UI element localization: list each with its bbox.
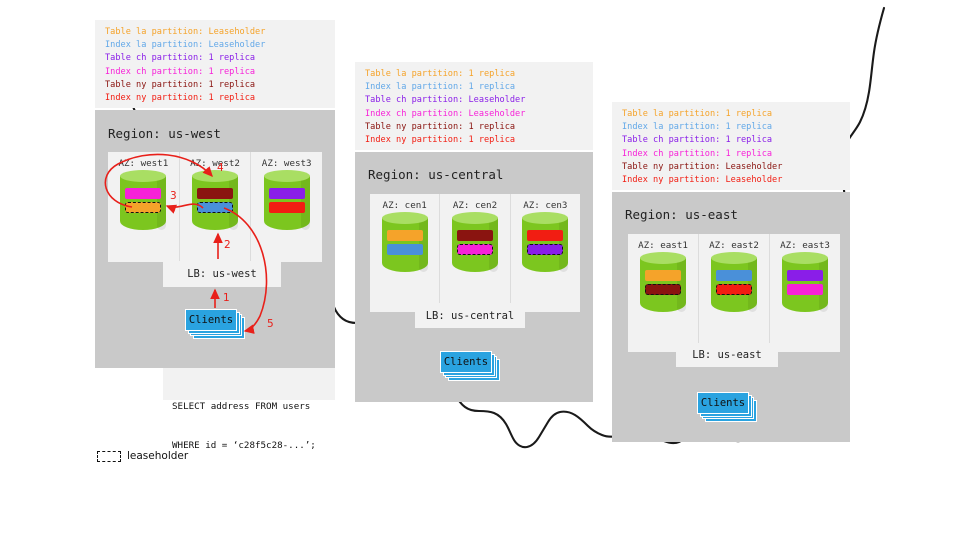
legend-line: Index la partition: 1 replica <box>365 81 585 94</box>
az-label: AZ: east3 <box>780 240 830 251</box>
region-title-us-east: Region: us-east <box>625 207 738 222</box>
partition-bars <box>645 270 681 295</box>
legend-line: Table ny partition: 1 replica <box>105 79 327 92</box>
az-label: AZ: cen2 <box>453 200 497 211</box>
partition-bar-leaseholder <box>125 202 161 213</box>
legend-line: Table ny partition: 1 replica <box>365 121 585 134</box>
legend-us-central: Table la partition: 1 replica Index la p… <box>355 62 593 150</box>
legend-line: Table ny partition: Leaseholder <box>622 161 842 174</box>
sql-line-2: WHERE id = ‘c28f5c28-...’; <box>172 439 326 452</box>
az-label: AZ: west1 <box>118 158 168 169</box>
partition-bars <box>787 270 823 295</box>
az-cell-west3[interactable]: AZ: west3 <box>251 152 322 262</box>
leaseholder-swatch-icon <box>97 451 121 462</box>
clients-card-front[interactable]: Clients <box>185 309 237 331</box>
legend-line: Index la partition: Leaseholder <box>105 39 327 52</box>
legend-line: Table la partition: Leaseholder <box>105 26 327 39</box>
legend-line: Table ch partition: 1 replica <box>622 134 842 147</box>
partition-bar-leaseholder <box>197 202 233 213</box>
partition-bar <box>125 188 161 199</box>
az-cell-cen3[interactable]: AZ: cen3 <box>511 194 580 312</box>
sql-query-note: SELECT address FROM users WHERE id = ‘c2… <box>163 368 335 400</box>
clients-us-west[interactable]: Clients <box>185 309 247 341</box>
db-node-west2[interactable] <box>192 176 238 230</box>
arrow-number-2: 2 <box>224 239 231 251</box>
az-cell-cen2[interactable]: AZ: cen2 <box>440 194 510 312</box>
sql-line-1: SELECT address FROM users <box>172 400 326 413</box>
partition-bars <box>716 270 752 295</box>
leaseholder-key-label: leaseholder <box>127 450 188 462</box>
legend-us-west: Table la partition: Leaseholder Index la… <box>95 20 335 108</box>
cylinder-top <box>452 212 498 224</box>
partition-bar-leaseholder <box>716 284 752 295</box>
clients-card-front[interactable]: Clients <box>440 351 492 373</box>
partition-bar <box>527 230 563 241</box>
partition-bar <box>457 230 493 241</box>
az-cell-west2[interactable]: AZ: west2 <box>180 152 252 262</box>
clients-us-east[interactable]: Clients <box>697 392 759 424</box>
partition-bar <box>716 270 752 281</box>
az-strip-us-west: AZ: west1 AZ: west2 <box>108 152 322 262</box>
lb-us-west[interactable]: LB: us-west <box>163 261 281 287</box>
partition-bar <box>197 188 233 199</box>
az-strip-us-central: AZ: cen1 AZ: cen2 <box>370 194 580 312</box>
legend-line: Table ch partition: Leaseholder <box>365 94 585 107</box>
cylinder-top <box>522 212 568 224</box>
az-label: AZ: west3 <box>262 158 312 169</box>
partition-bar <box>787 284 823 295</box>
cylinder-top <box>192 170 238 182</box>
az-label: AZ: east2 <box>709 240 759 251</box>
cylinder-top <box>640 252 686 264</box>
arrow-number-3: 3 <box>170 190 177 202</box>
legend-line: Table la partition: 1 replica <box>365 68 585 81</box>
az-label: AZ: west2 <box>190 158 240 169</box>
legend-line: Index ch partition: Leaseholder <box>365 108 585 121</box>
az-label: AZ: east1 <box>638 240 688 251</box>
legend-line: Index ch partition: 1 replica <box>622 148 842 161</box>
cylinder-top <box>264 170 310 182</box>
lb-us-central[interactable]: LB: us-central <box>415 303 525 328</box>
db-node-cen2[interactable] <box>452 218 498 272</box>
az-label: AZ: cen3 <box>523 200 567 211</box>
legend-line: Index ny partition: 1 replica <box>105 92 327 105</box>
partition-bar <box>787 270 823 281</box>
legend-line: Index ny partition: Leaseholder <box>622 174 842 187</box>
legend-line: Index la partition: 1 replica <box>622 121 842 134</box>
partition-bars <box>269 188 305 213</box>
legend-line: Index ch partition: 1 replica <box>105 66 327 79</box>
partition-bars <box>197 188 233 213</box>
partition-bar <box>387 244 423 255</box>
db-node-cen3[interactable] <box>522 218 568 272</box>
cylinder-top <box>711 252 757 264</box>
az-cell-east3[interactable]: AZ: east3 <box>770 234 840 352</box>
db-node-east2[interactable] <box>711 258 757 312</box>
partition-bar <box>269 188 305 199</box>
arrow-number-5: 5 <box>267 318 274 330</box>
arrow-number-4: 4 <box>217 162 224 174</box>
arrow-number-1: 1 <box>223 292 230 304</box>
partition-bars <box>527 230 563 255</box>
cylinder-top <box>782 252 828 264</box>
az-cell-east2[interactable]: AZ: east2 <box>699 234 770 352</box>
region-title-us-west: Region: us-west <box>108 126 221 141</box>
az-cell-cen1[interactable]: AZ: cen1 <box>370 194 440 312</box>
db-node-east1[interactable] <box>640 258 686 312</box>
legend-line: Index ny partition: 1 replica <box>365 134 585 147</box>
cylinder-top <box>120 170 166 182</box>
region-title-us-central: Region: us-central <box>368 167 503 182</box>
partition-bar-leaseholder <box>527 244 563 255</box>
clients-card-front[interactable]: Clients <box>697 392 749 414</box>
partition-bar-leaseholder <box>457 244 493 255</box>
db-node-west1[interactable] <box>120 176 166 230</box>
partition-bars <box>387 230 423 255</box>
lb-us-east[interactable]: LB: us-east <box>676 343 778 367</box>
az-label: AZ: cen1 <box>383 200 427 211</box>
partition-bar-leaseholder <box>645 284 681 295</box>
db-node-west3[interactable] <box>264 176 310 230</box>
partition-bar <box>387 230 423 241</box>
az-cell-east1[interactable]: AZ: east1 <box>628 234 699 352</box>
legend-us-east: Table la partition: 1 replica Index la p… <box>612 102 850 190</box>
leaseholder-key: leaseholder <box>97 450 188 462</box>
clients-us-central[interactable]: Clients <box>440 351 502 383</box>
db-node-east3[interactable] <box>782 258 828 312</box>
az-strip-us-east: AZ: east1 AZ: east2 <box>628 234 840 352</box>
legend-line: Table ch partition: 1 replica <box>105 52 327 65</box>
partition-bars <box>457 230 493 255</box>
partition-bar <box>645 270 681 281</box>
az-cell-west1[interactable]: AZ: west1 <box>108 152 180 262</box>
partition-bar <box>269 202 305 213</box>
partition-bars <box>125 188 161 213</box>
diagram-canvas: Table la partition: Leaseholder Index la… <box>0 0 960 540</box>
legend-line: Table la partition: 1 replica <box>622 108 842 121</box>
db-node-cen1[interactable] <box>382 218 428 272</box>
cylinder-top <box>382 212 428 224</box>
